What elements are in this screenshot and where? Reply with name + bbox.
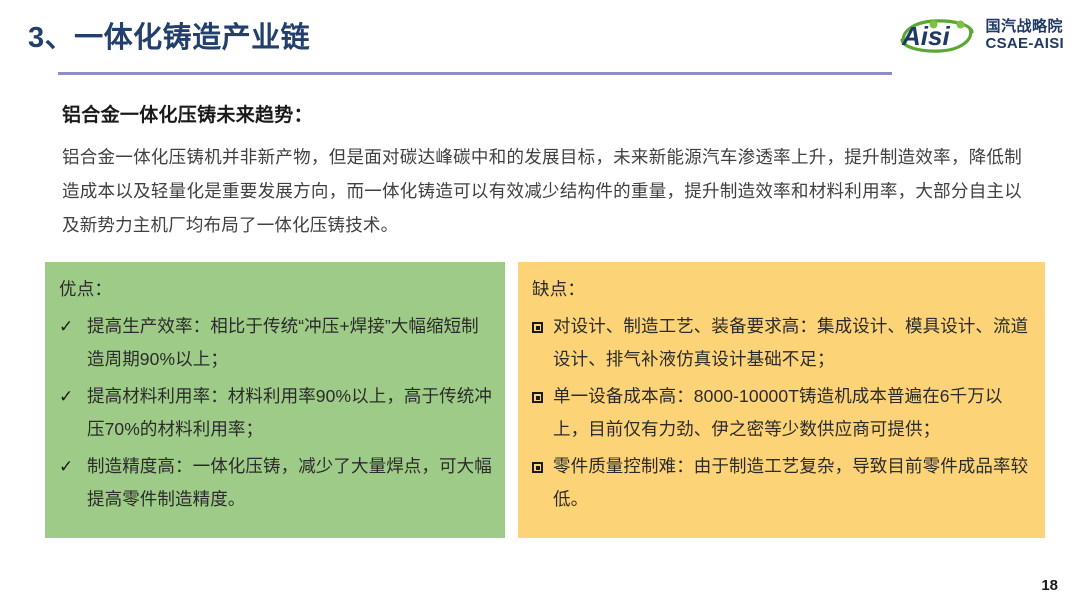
list-item: 对设计、制造工艺、装备要求高：集成设计、模具设计、流道设计、排气补液仿真设计基础… (532, 310, 1033, 376)
list-item: ✓ 提高材料利用率：材料利用率90%以上，高于传统冲压70%的材料利用率； (59, 380, 493, 446)
square-bullet-icon (532, 310, 553, 343)
list-item: ✓ 制造精度高：一体化压铸，减少了大量焊点，可大幅提高零件制造精度。 (59, 450, 493, 516)
title-underline-divider (58, 72, 892, 75)
list-item-label: 提高生产效率：相比于传统“冲压+焊接”大幅缩短制造周期90%以上； (87, 310, 493, 376)
logo-chinese-name: 国汽战略院 (985, 19, 1064, 36)
disadvantages-panel: 缺点： 对设计、制造工艺、装备要求高：集成设计、模具设计、流道设计、排气补液仿真… (518, 262, 1045, 538)
advantages-panel-title: 优点： (59, 276, 493, 301)
advantages-list: ✓ 提高生产效率：相比于传统“冲压+焊接”大幅缩短制造周期90%以上； ✓ 提高… (59, 310, 493, 516)
advantages-panel: 优点： ✓ 提高生产效率：相比于传统“冲压+焊接”大幅缩短制造周期90%以上； … (45, 262, 505, 538)
logo-english-name: CSAE-AISI (985, 36, 1064, 53)
list-item: ✓ 提高生产效率：相比于传统“冲压+焊接”大幅缩短制造周期90%以上； (59, 310, 493, 376)
disadvantages-panel-title: 缺点： (532, 276, 1033, 301)
page-number: 18 (1041, 577, 1058, 594)
list-item: 零件质量控制难：由于制造工艺复杂，导致目前零件成品率较低。 (532, 450, 1033, 516)
list-item-label: 单一设备成本高：8000-10000T铸造机成本普遍在6千万以上，目前仅有力劲、… (553, 380, 1033, 446)
section-body-text: 铝合金一体化压铸机并非新产物，但是面对碳达峰碳中和的发展目标，未来新能源汽车渗透… (62, 140, 1022, 242)
square-bullet-icon (532, 380, 553, 413)
list-item: 单一设备成本高：8000-10000T铸造机成本普遍在6千万以上，目前仅有力劲、… (532, 380, 1033, 446)
brand-logo: Aisi 国汽战略院 CSAE-AISI (898, 16, 1064, 56)
square-bullet-icon (532, 450, 553, 483)
list-item-label: 零件质量控制难：由于制造工艺复杂，导致目前零件成品率较低。 (553, 450, 1033, 516)
slide: 3、一体化铸造产业链 Aisi 国汽战略院 CSAE-AISI 铝合金一体化压铸… (0, 0, 1080, 608)
disadvantages-list: 对设计、制造工艺、装备要求高：集成设计、模具设计、流道设计、排气补液仿真设计基础… (532, 310, 1033, 516)
logo-wordmark: 国汽战略院 CSAE-AISI (985, 19, 1064, 53)
aisi-logo-icon: Aisi (898, 16, 976, 56)
svg-text:Aisi: Aisi (901, 21, 950, 51)
section-heading: 铝合金一体化压铸未来趋势： (62, 100, 313, 127)
check-icon: ✓ (59, 310, 87, 343)
page-title: 3、一体化铸造产业链 (28, 14, 310, 56)
section-body: 铝合金一体化压铸机并非新产物，但是面对碳达峰碳中和的发展目标，未来新能源汽车渗透… (62, 140, 1022, 242)
check-icon: ✓ (59, 450, 87, 483)
list-item-label: 制造精度高：一体化压铸，减少了大量焊点，可大幅提高零件制造精度。 (87, 450, 493, 516)
check-icon: ✓ (59, 380, 87, 413)
list-item-label: 提高材料利用率：材料利用率90%以上，高于传统冲压70%的材料利用率； (87, 380, 493, 446)
list-item-label: 对设计、制造工艺、装备要求高：集成设计、模具设计、流道设计、排气补液仿真设计基础… (553, 310, 1033, 376)
